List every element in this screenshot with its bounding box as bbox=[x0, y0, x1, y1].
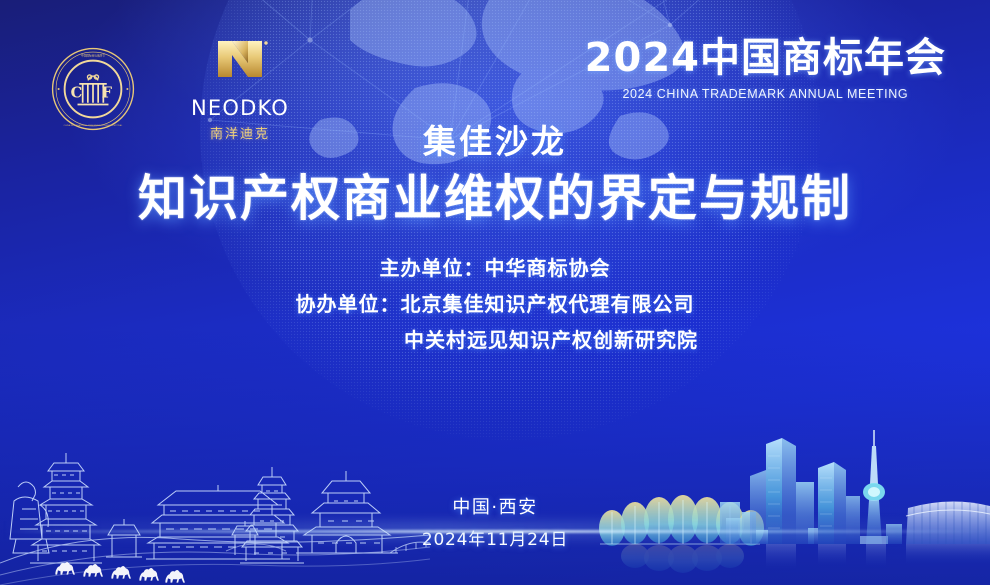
organizer-line: 协办单位：北京集佳知识产权代理有限公司 bbox=[0, 294, 990, 314]
event-brand: 2024中国商标年会 2024 CHINA TRADEMARK ANNUAL M… bbox=[585, 38, 946, 101]
event-title-cn: 2024中国商标年会 bbox=[585, 38, 946, 78]
water-reflection bbox=[621, 544, 990, 573]
svg-text:NEODKO: NEODKO bbox=[191, 96, 289, 120]
neodko-wordmark-icon: NEODKO bbox=[164, 95, 316, 121]
svg-text:F: F bbox=[102, 84, 113, 101]
neodko-n-mark-icon bbox=[186, 35, 294, 95]
salon-name: 集佳沙龙 bbox=[0, 124, 990, 160]
svg-text:中国国际商标品牌节: 中国国际商标品牌节 bbox=[81, 53, 105, 57]
xian-modern-skyline bbox=[590, 420, 990, 585]
horizon-light-streak bbox=[0, 530, 990, 533]
headline: 知识产权商业维权的界定与规制 bbox=[0, 170, 990, 227]
cta-emblem-icon: C F 中国国际商标品牌节 CHINA INTERNATIONAL TRADEM… bbox=[50, 46, 136, 132]
xian-heritage-skyline bbox=[0, 435, 430, 585]
main-title-block: 集佳沙龙 知识产权商业维权的界定与规制 bbox=[0, 124, 990, 227]
organizer-block: 主办单位：中华商标协会 协办单位：北京集佳知识产权代理有限公司 中关村远见知识产… bbox=[0, 258, 990, 366]
conference-poster: C F 中国国际商标品牌节 CHINA INTERNATIONAL TRADEM… bbox=[0, 0, 990, 585]
event-title-en: 2024 CHINA TRADEMARK ANNUAL MEETING bbox=[585, 87, 946, 101]
organizer-line: 中关村远见知识产权创新研究院 bbox=[0, 330, 990, 350]
svg-text:C: C bbox=[71, 84, 83, 101]
organizer-line: 主办单位：中华商标协会 bbox=[0, 258, 990, 278]
